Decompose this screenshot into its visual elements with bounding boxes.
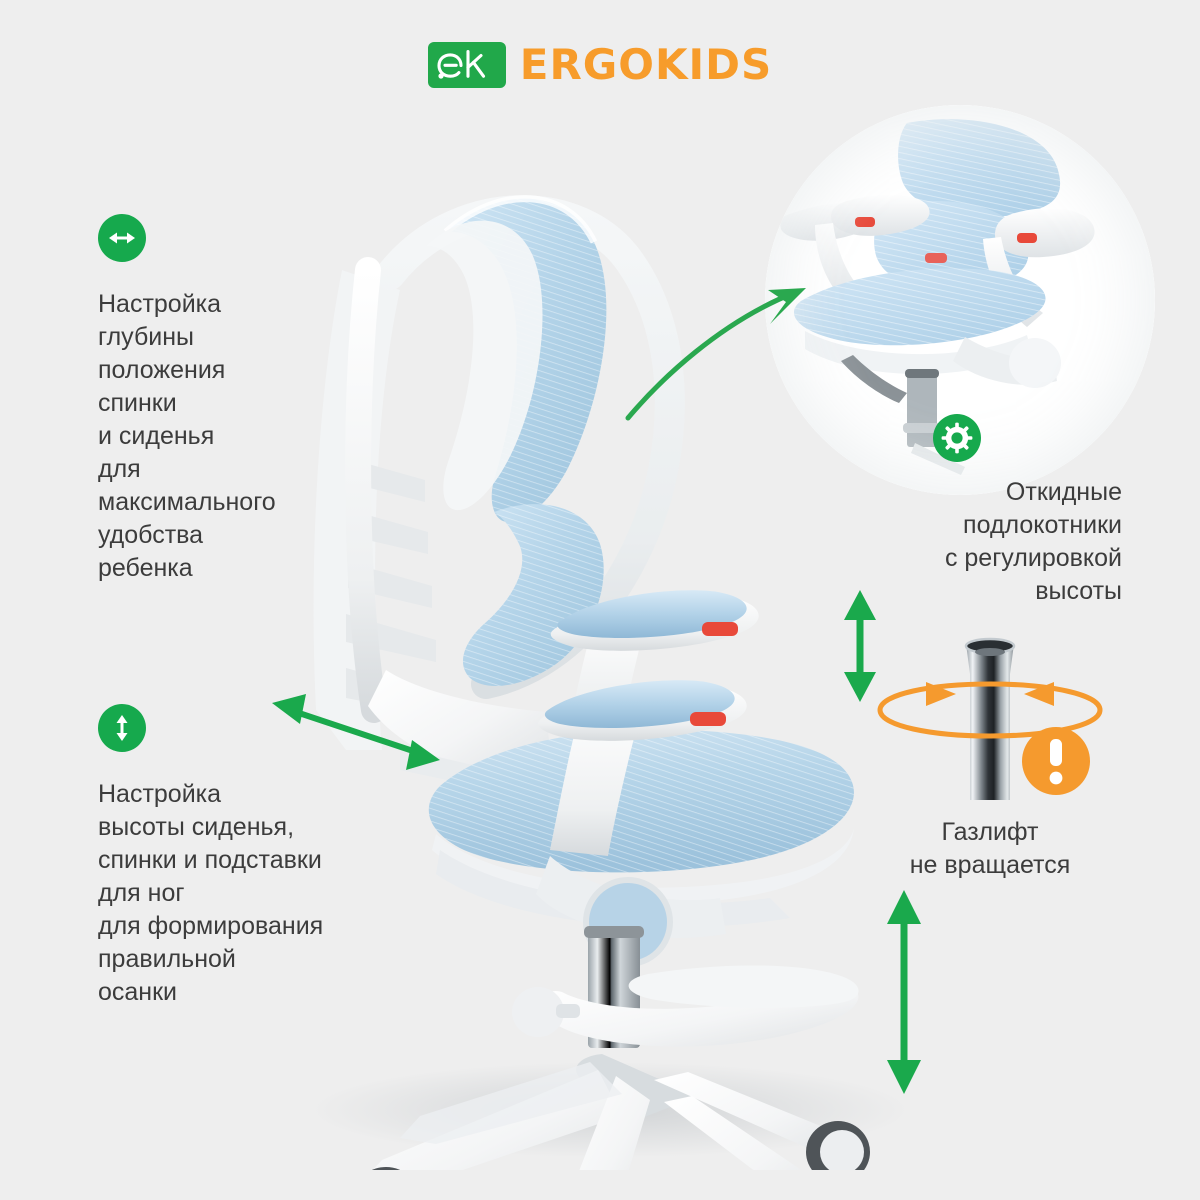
gaslift-illustration [870, 626, 1110, 806]
feature-height-adjustment: Настройка высоты сиденья, спинки и подст… [98, 704, 323, 1009]
armrest-release-lever [702, 622, 738, 636]
feature-armrest-text: Откидные подлокотники с регулировкой выс… [792, 476, 1122, 608]
feature-height-text: Настройка высоты сиденья, спинки и подст… [98, 778, 323, 1009]
gear-icon [933, 414, 981, 462]
vertical-double-arrow-icon [98, 704, 146, 752]
horizontal-double-arrow-icon [98, 214, 146, 262]
feature-depth-adjustment: Настройка глубины положения спинки и сид… [98, 214, 276, 585]
brand-header: ERGOKIDS [0, 36, 1200, 94]
infographic-canvas: ERGOKIDS [0, 0, 1200, 1200]
feature-gaslift-no-rotation: Газлифт не вращается [840, 626, 1140, 882]
ek-monogram-icon [428, 42, 506, 88]
feature-foldable-armrests: Откидные подлокотники с регулировкой выс… [792, 414, 1122, 608]
feature-depth-text: Настройка глубины положения спинки и сид… [98, 288, 276, 585]
feature-gaslift-text: Газлифт не вращается [910, 816, 1071, 882]
brand-name: ERGOKIDS [520, 44, 773, 86]
armrest-release-lever-lower [690, 712, 726, 726]
